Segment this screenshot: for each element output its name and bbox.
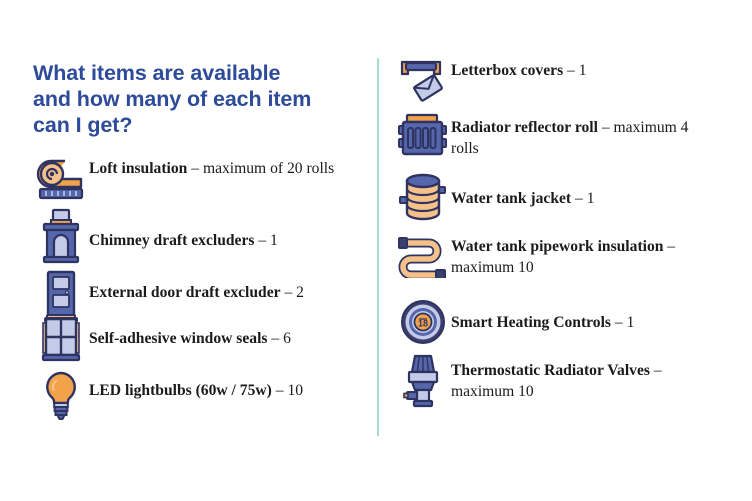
item-quantity: – 2: [281, 284, 304, 301]
item-quantity: – 1: [571, 190, 594, 207]
item-name: Radiator reflector roll: [451, 119, 598, 136]
list-item-label: Letterbox covers – 1: [451, 52, 587, 81]
list-item-label: Chimney draft excluders – 1: [89, 208, 278, 251]
infographic-page: What items are available and how many of…: [0, 0, 752, 501]
item-quantity: – maximum of 20 rolls: [187, 160, 334, 177]
item-quantity: – 1: [563, 62, 586, 79]
list-item: Water tank jacket – 1: [395, 170, 735, 226]
list-item-label: Water tank pipework insulation – maximum…: [451, 228, 713, 278]
window-icon: [33, 312, 89, 368]
page-title-line-1: What items are available: [33, 60, 363, 86]
pipework-icon: [395, 228, 451, 284]
list-item: Radiator reflector roll – maximum 4 roll…: [395, 108, 735, 164]
item-quantity: – 1: [611, 314, 634, 331]
list-item: Letterbox covers – 1: [395, 52, 735, 108]
thermostat-value: 18: [418, 318, 428, 328]
list-item-label: Water tank jacket – 1: [451, 170, 595, 209]
list-item-label: Self-adhesive window seals – 6: [89, 312, 291, 349]
page-title: What items are available and how many of…: [33, 60, 363, 138]
item-name: LED lightbulbs (60w / 75w): [89, 382, 272, 399]
list-item: Loft insulation – maximum of 20 rolls: [33, 152, 363, 208]
radiator-icon: [395, 108, 451, 164]
item-quantity: – 6: [267, 330, 290, 347]
lightbulb-icon: [33, 368, 89, 424]
list-item-label: LED lightbulbs (60w / 75w) – 10: [89, 368, 351, 401]
list-item-label: Loft insulation – maximum of 20 rolls: [89, 152, 351, 179]
item-name: Loft insulation: [89, 160, 187, 177]
list-item-label: Radiator reflector roll – maximum 4 roll…: [451, 108, 713, 159]
item-name: Chimney draft excluders: [89, 232, 254, 249]
list-item: LED lightbulbs (60w / 75w) – 10: [33, 368, 363, 424]
list-item-label: External door draft excluder – 2: [89, 268, 304, 303]
item-name: Smart Heating Controls: [451, 314, 611, 331]
list-item: Self-adhesive window seals – 6: [33, 312, 363, 368]
insulation-roll-icon: [33, 152, 89, 208]
list-item: Water tank pipework insulation – maximum…: [395, 228, 735, 284]
fireplace-icon: [33, 208, 89, 264]
item-name: External door draft excluder: [89, 284, 281, 301]
list-item-label: Thermostatic Radiator Valves – maximum 1…: [451, 352, 713, 402]
column-divider: [377, 58, 379, 436]
list-item: 18 Smart Heating Controls – 1: [395, 294, 735, 350]
item-quantity: – 1: [254, 232, 277, 249]
thermostat-dial-icon: 18: [395, 294, 451, 350]
item-name: Self-adhesive window seals: [89, 330, 267, 347]
list-item-label: Smart Heating Controls – 1: [451, 294, 634, 333]
item-name: Thermostatic Radiator Valves: [451, 362, 650, 379]
letterbox-icon: [395, 52, 451, 108]
radiator-valve-icon: [395, 352, 451, 408]
page-title-line-2: and how many of each item: [33, 86, 363, 112]
list-item: Thermostatic Radiator Valves – maximum 1…: [395, 352, 735, 408]
item-quantity: – 10: [272, 382, 303, 399]
item-name: Letterbox covers: [451, 62, 563, 79]
list-item: Chimney draft excluders – 1: [33, 208, 363, 264]
item-name: Water tank jacket: [451, 190, 571, 207]
page-title-line-3: can I get?: [33, 112, 363, 138]
water-tank-icon: [395, 170, 451, 226]
item-name: Water tank pipework insulation: [451, 238, 663, 255]
